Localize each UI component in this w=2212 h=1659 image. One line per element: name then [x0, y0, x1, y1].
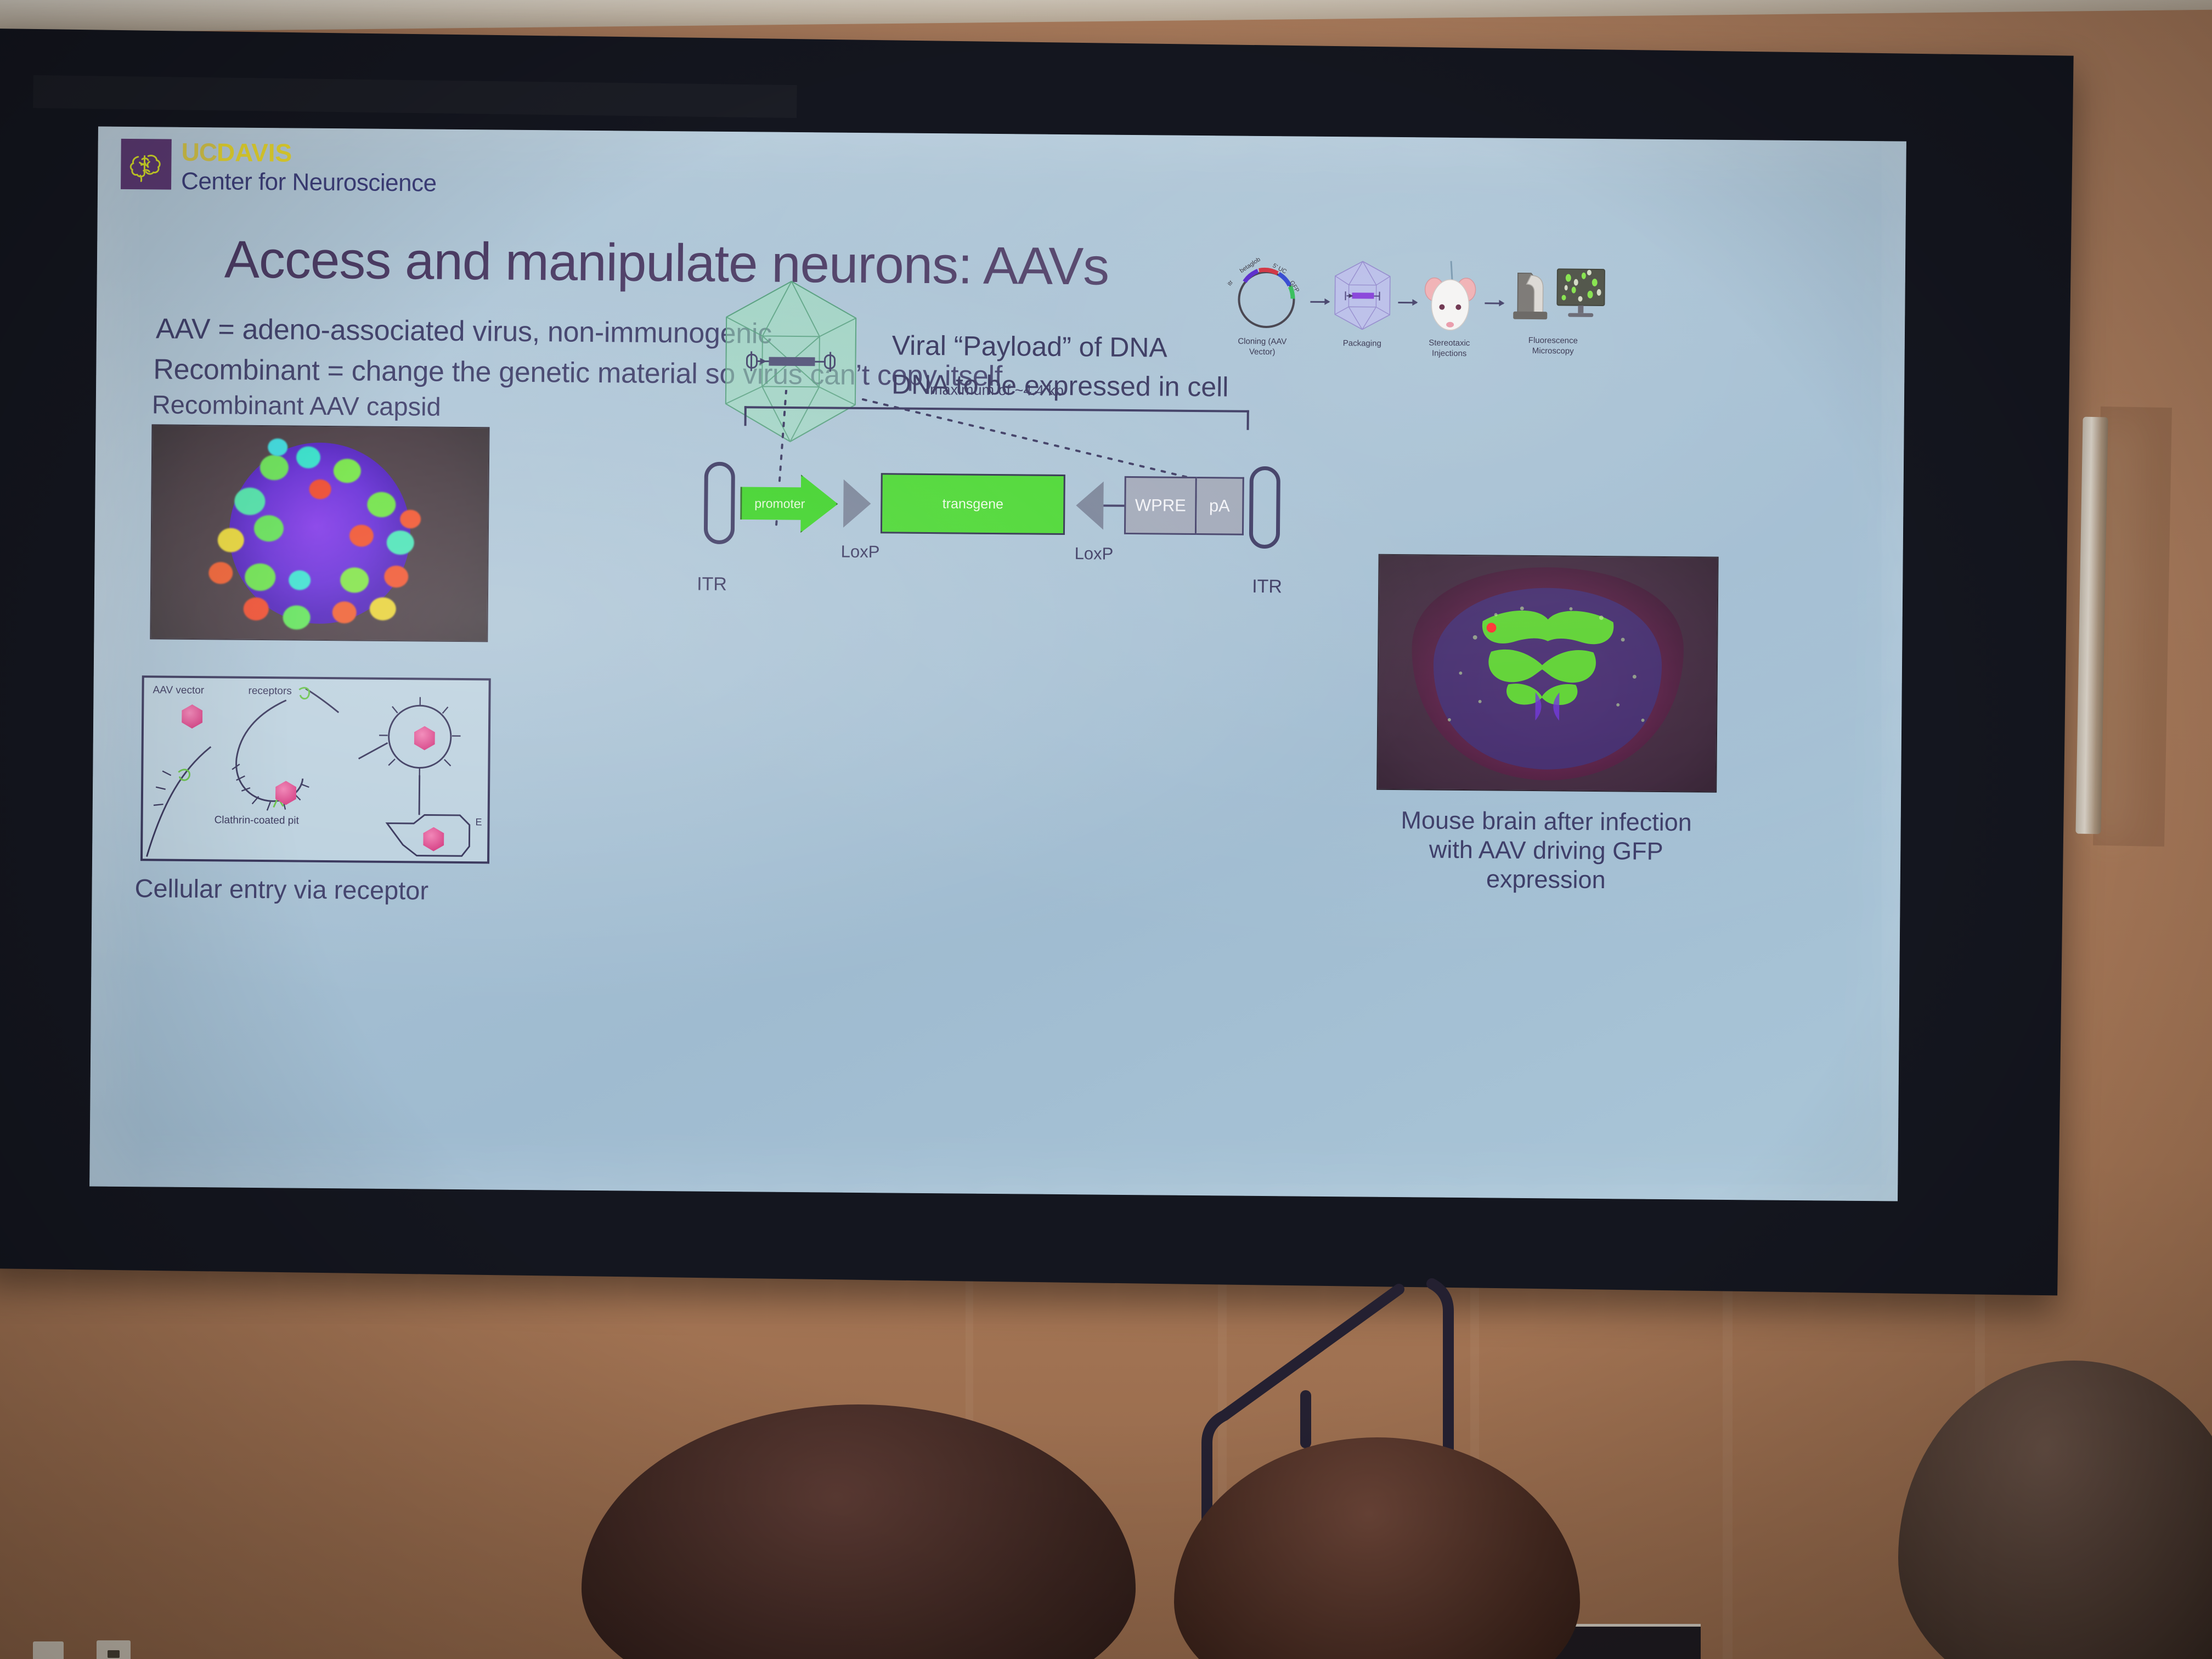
- itr-right-hairpin: [1249, 466, 1280, 549]
- pa-element: pA: [1197, 477, 1244, 535]
- plasmid-label-itr: itr: [1227, 279, 1235, 287]
- workflow-label-stereotaxic: Stereotaxic Injections: [1411, 338, 1488, 359]
- light-switch-plate-left[interactable]: [33, 1641, 64, 1659]
- bullet-aav-definition: AAV = adeno-associated virus, non-immuno…: [156, 312, 772, 350]
- loxp-label-right: LoxP: [1075, 544, 1114, 564]
- workflow-label-microscopy: Fluorescence Microscopy: [1512, 336, 1594, 357]
- capsid-section-label: Recombinant AAV capsid: [152, 389, 441, 421]
- promoter-element: promoter: [740, 474, 838, 533]
- projection-screen-frame: UC DAVIS Center for Neuroscience Access …: [0, 29, 2074, 1295]
- wpre-element: WPRE: [1124, 476, 1197, 535]
- capacity-bracket: [744, 406, 1249, 430]
- loxp-triangle-left: [843, 479, 871, 528]
- mouse-brain-fluorescence-image: [1376, 554, 1719, 793]
- presentation-slide: UC DAVIS Center for Neuroscience Access …: [89, 127, 1906, 1201]
- payload-capacity-label: maximum of ~4.4 kb: [930, 381, 1064, 399]
- department-name: Center for Neuroscience: [181, 168, 437, 198]
- loxp-triangle-right: [1076, 481, 1104, 529]
- slide-title: Access and manipulate neurons: AAVs: [224, 229, 1109, 297]
- workflow-label-packaging: Packaging: [1327, 338, 1398, 349]
- light-switch-plate-right[interactable]: [97, 1640, 131, 1659]
- loxp-label-left: LoxP: [841, 542, 880, 562]
- bullet-recombinant-definition: Recombinant = change the genetic materia…: [153, 353, 1002, 393]
- brain-image-caption: Mouse brain after infection with AAV dri…: [1376, 805, 1717, 895]
- brand-uc: UC: [181, 139, 217, 165]
- itr-label-left: ITR: [697, 574, 727, 595]
- transgene-element: transgene: [881, 473, 1065, 535]
- workflow-label-cloning: Cloning (AAV Vector): [1227, 336, 1298, 358]
- screen-top-mask: [33, 75, 797, 118]
- plasmid-label-betaglob: betaglob: [1239, 256, 1262, 274]
- brain-icon: [121, 139, 172, 190]
- brand-davis: DAVIS: [217, 139, 292, 165]
- aav-capsid-image: [150, 424, 489, 642]
- cellular-entry-caption: Cellular entry via receptor: [134, 873, 428, 905]
- ucdavis-logo: UC DAVIS Center for Neuroscience: [121, 139, 437, 198]
- itr-left-hairpin: [704, 462, 735, 544]
- aav-experiment-workflow: itr betaglob 5' UC GFP: [1226, 254, 1644, 367]
- itr-label-right: ITR: [1252, 576, 1282, 597]
- cellular-entry-diagram: AAV vector receptors Clathrin-coated pit…: [140, 675, 491, 864]
- aav-genome-construct: promoter transgene WPRE pA LoxP LoxP ITR…: [704, 454, 1352, 558]
